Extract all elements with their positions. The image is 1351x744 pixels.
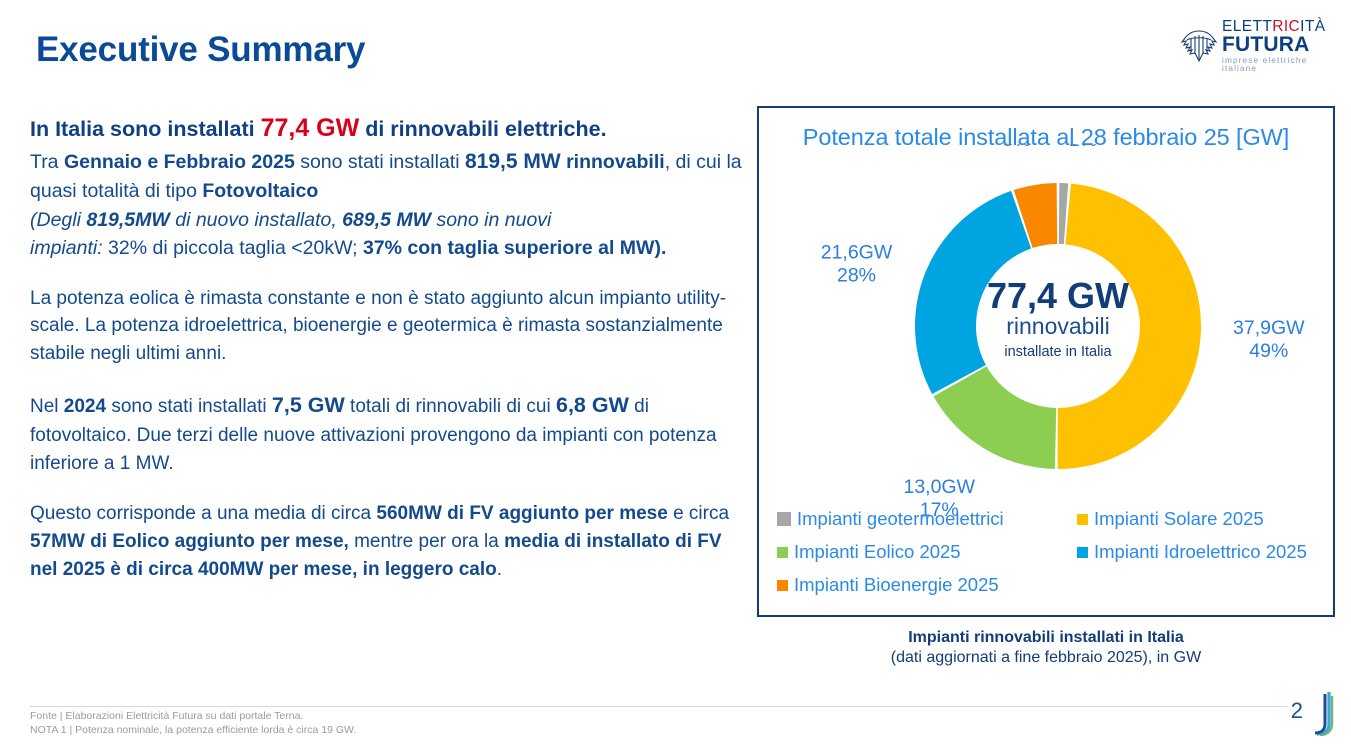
p2-i1: (Degli <box>30 209 86 231</box>
legend-label: Impianti Idroelettrico 2025 <box>1094 541 1307 563</box>
legend-item-idroelettrico[interactable]: Impianti Idroelettrico 2025 <box>1077 541 1323 563</box>
footer-notes: Fonte | Elaborazioni Elettricità Futura … <box>30 709 356 738</box>
legend-item-geotermoelettrici[interactable]: Impianti geotermoelettrici <box>777 508 1077 530</box>
p4-t1: Nel <box>30 396 64 417</box>
p2-b3: rinnovabili <box>566 151 665 173</box>
svg-text:5%: 5% <box>1003 144 1031 151</box>
p2-t4: 32% di piccola taglia <20kW; <box>103 237 363 259</box>
donut-center-line2: rinnovabili <box>1006 313 1110 339</box>
caption-line2: (dati aggiornati a fine febbraio 2025), … <box>757 648 1335 668</box>
svg-text:37,9GW: 37,9GW <box>1233 317 1305 339</box>
swoosh-decoration-icon <box>1303 690 1337 736</box>
company-logo: ELETTRICITÀ FUTURA imprese elettriche it… <box>1179 20 1329 72</box>
donut-chart: 1,0GW1%37,9GW49%13,0GW17%21,6GW28%4,0GW5… <box>759 144 1333 520</box>
lead-post: di rinnovabili elettriche. <box>359 117 606 141</box>
p5-b1: 560MW di FV aggiunto per mese <box>376 503 667 524</box>
slide: Executive Summary ELETTRICITÀ FUTURA imp… <box>0 0 1351 744</box>
p5-t1: Questo corrisponde a una media di circa <box>30 503 376 524</box>
donut-center-total: 77,4 GW <box>987 275 1129 316</box>
donut-center-line3: installate in Italia <box>1004 344 1112 360</box>
p4-t2: sono stati installati <box>106 396 272 417</box>
donut-label: 37,9GW49% <box>1233 317 1305 362</box>
svg-text:28%: 28% <box>837 265 876 287</box>
legend-swatch-icon <box>777 547 788 558</box>
legend-row: Impianti Bioenergie 2025 <box>777 574 1323 596</box>
p5-t2: e circa <box>668 503 729 524</box>
footer-divider <box>30 706 1288 707</box>
p4-b3: 6,8 GW <box>556 393 629 417</box>
svg-text:49%: 49% <box>1249 340 1288 362</box>
legend-swatch-icon <box>1077 514 1088 525</box>
chart-panel: Potenza totale installata al 28 febbraio… <box>757 106 1335 617</box>
eagle-emblem-icon <box>1179 28 1219 64</box>
p2-i2: 819,5MW <box>86 209 169 231</box>
legend-swatch-icon <box>777 512 791 526</box>
donut-label: 4,0GW5% <box>986 144 1047 151</box>
donut-chart-svg: 1,0GW1%37,9GW49%13,0GW17%21,6GW28%4,0GW5… <box>759 144 1333 520</box>
svg-text:21,6GW: 21,6GW <box>821 242 893 264</box>
footer-note-fonte: Fonte | Elaborazioni Elettricità Futura … <box>30 709 356 723</box>
donut-label: 1,0GW1% <box>1053 144 1114 151</box>
legend-swatch-icon <box>777 580 788 591</box>
caption-line1: Impianti rinnovabili installati in Itali… <box>757 628 1335 648</box>
p2-b1: Gennaio e Febbraio 2025 <box>64 151 295 173</box>
paragraph-2024: Nel 2024 sono stati installati 7,5 GW to… <box>30 390 742 477</box>
chart-legend: Impianti geotermoelettrici Impianti Sola… <box>777 508 1323 607</box>
legend-label: Impianti geotermoelettrici <box>797 508 1004 530</box>
p2-b4: Fotovoltaico <box>202 180 318 202</box>
legend-swatch-icon <box>1077 547 1088 558</box>
footer-note-nota1: NOTA 1 | Potenza nominale, la potenza ef… <box>30 723 356 737</box>
legend-row: Impianti Eolico 2025 Impianti Idroelettr… <box>777 541 1323 563</box>
logo-tagline: imprese elettriche italiane <box>1222 56 1329 73</box>
p2-i3: di nuovo installato, <box>170 209 342 231</box>
legend-item-eolico[interactable]: Impianti Eolico 2025 <box>777 541 1077 563</box>
p5-t4: . <box>497 559 502 580</box>
p2-t2: sono stati installati <box>295 151 465 173</box>
logo-name-line2: FUTURA <box>1222 34 1329 55</box>
legend-label: Impianti Solare 2025 <box>1094 508 1264 530</box>
legend-label: Impianti Bioenergie 2025 <box>794 574 999 596</box>
p2-t1: Tra <box>30 151 64 173</box>
p2-i4: 689,5 MW <box>342 209 431 231</box>
p5-b2: 57MW di Eolico aggiunto per mese, <box>30 531 349 552</box>
svg-text:13,0GW: 13,0GW <box>903 476 975 498</box>
lead-highlight: 77,4 GW <box>261 114 360 142</box>
page-title: Executive Summary <box>36 30 365 70</box>
p5-t3: mentre per ora la <box>349 531 504 552</box>
legend-item-solare[interactable]: Impianti Solare 2025 <box>1077 508 1323 530</box>
summary-text-column: In Italia sono installati 77,4 GW di rin… <box>30 112 742 584</box>
p2-i6: impianti: <box>30 237 103 259</box>
chart-caption: Impianti rinnovabili installati in Itali… <box>757 628 1335 668</box>
p2-b5: 37% con taglia superiore al MW). <box>363 237 666 259</box>
p2-b2: 819,5 MW <box>465 150 561 173</box>
donut-label: 21,6GW28% <box>821 242 893 287</box>
p4-t3: totali di rinnovabili di cui <box>345 396 556 417</box>
lead-statement: In Italia sono installati 77,4 GW di rin… <box>30 112 742 145</box>
paragraph-installazioni-2025: Tra Gennaio e Febbraio 2025 sono stati i… <box>30 147 742 263</box>
lead-pre: In Italia sono installati <box>30 117 261 141</box>
svg-text:1%: 1% <box>1069 144 1097 151</box>
legend-label: Impianti Eolico 2025 <box>794 541 961 563</box>
p4-b2: 7,5 GW <box>272 393 345 417</box>
p4-b1: 2024 <box>64 396 106 417</box>
legend-item-empty <box>1077 574 1323 596</box>
legend-row: Impianti geotermoelettrici Impianti Sola… <box>777 508 1323 530</box>
paragraph-eolica-stabile: La potenza eolica è rimasta constante e … <box>30 285 742 369</box>
paragraph-media-mensile: Questo corrisponde a una media di circa … <box>30 500 742 584</box>
p2-i5: sono in nuovi <box>431 209 551 231</box>
page-number: 2 <box>1291 698 1303 724</box>
legend-item-bioenergie[interactable]: Impianti Bioenergie 2025 <box>777 574 1077 596</box>
